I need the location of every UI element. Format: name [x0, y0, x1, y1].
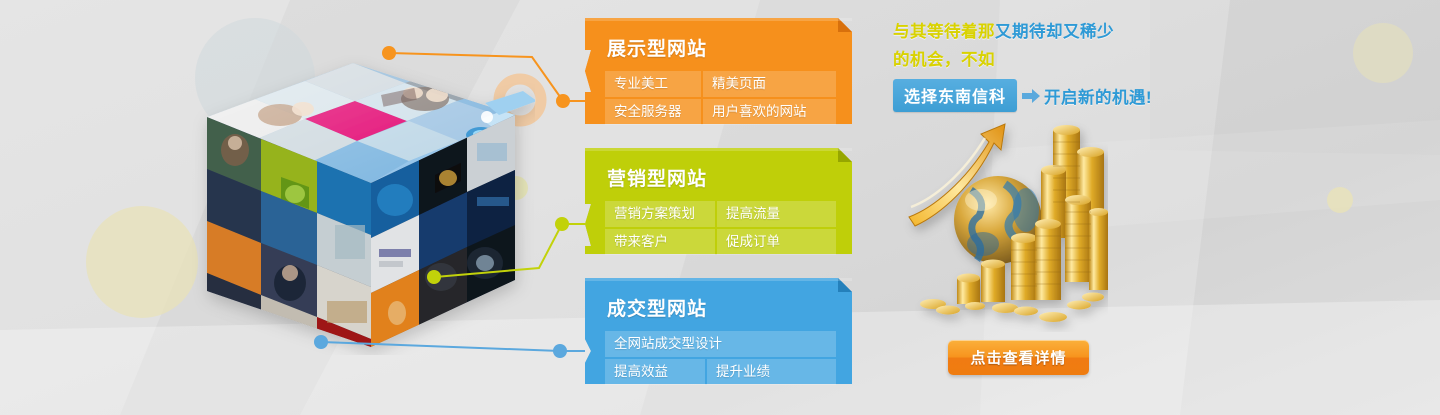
tag-item[interactable]: 用户喜欢的网站: [703, 99, 836, 125]
tag-item[interactable]: 带来客户: [605, 229, 715, 255]
panel-showcase-website[interactable]: 展示型网站 专业美工 精美页面 安全服务器 用户喜欢的网站: [585, 18, 852, 141]
panel-deal-tags: 全网站成交型设计 提高效益 提升业绩: [605, 331, 836, 385]
tag-item[interactable]: 精美页面: [703, 71, 836, 97]
panel-deal-website[interactable]: 成交型网站 全网站成交型设计 提高效益 提升业绩: [585, 278, 852, 401]
arrow-right-icon: [1022, 89, 1040, 103]
headline-line-1: 与其等待着那又期待却又稀少: [893, 18, 1183, 46]
headline-tail-text: 开启新的机遇!: [1044, 84, 1152, 108]
website-portfolio-cube: [185, 55, 535, 355]
brand-pill[interactable]: 选择东南信科: [893, 79, 1017, 112]
tag-item[interactable]: 提高流量: [717, 201, 836, 227]
tag-item[interactable]: 专业美工: [605, 71, 701, 97]
globe-coins-growth-arrow-illustration: [893, 112, 1108, 332]
panel-showcase-tags: 专业美工 精美页面 安全服务器 用户喜欢的网站: [605, 71, 836, 125]
headline-part-blue: 又期待却又稀少: [995, 23, 1114, 41]
tag-item[interactable]: 安全服务器: [605, 99, 701, 125]
panel-marketing-website[interactable]: 营销型网站 营销方案策划 提高流量 带来客户 促成订单: [585, 148, 852, 271]
tag-item[interactable]: 促成订单: [717, 229, 836, 255]
promo-headline-block: 与其等待着那又期待却又稀少 的机会，不如 选择东南信科 开启新的机遇!: [893, 18, 1183, 112]
headline-part-yellow: 与其等待着那: [893, 23, 995, 41]
tag-item[interactable]: 全网站成交型设计: [605, 331, 836, 357]
headline-line-2: 的机会，不如: [893, 46, 1183, 74]
tag-item[interactable]: 提高效益: [605, 359, 705, 385]
hero-banner: 展示型网站 专业美工 精美页面 安全服务器 用户喜欢的网站 营销型网站: [0, 0, 1440, 415]
headline-cta-line: 选择东南信科 开启新的机遇!: [893, 79, 1183, 112]
panel-marketing-tags: 营销方案策划 提高流量 带来客户 促成订单: [605, 201, 836, 255]
panel-marketing-title: 营销型网站: [607, 164, 836, 191]
panel-deal-title: 成交型网站: [607, 294, 836, 321]
tag-item[interactable]: 营销方案策划: [605, 201, 715, 227]
panel-showcase-title: 展示型网站: [607, 34, 836, 61]
view-details-button[interactable]: 点击查看详情: [948, 340, 1089, 375]
tag-item[interactable]: 提升业绩: [707, 359, 836, 385]
